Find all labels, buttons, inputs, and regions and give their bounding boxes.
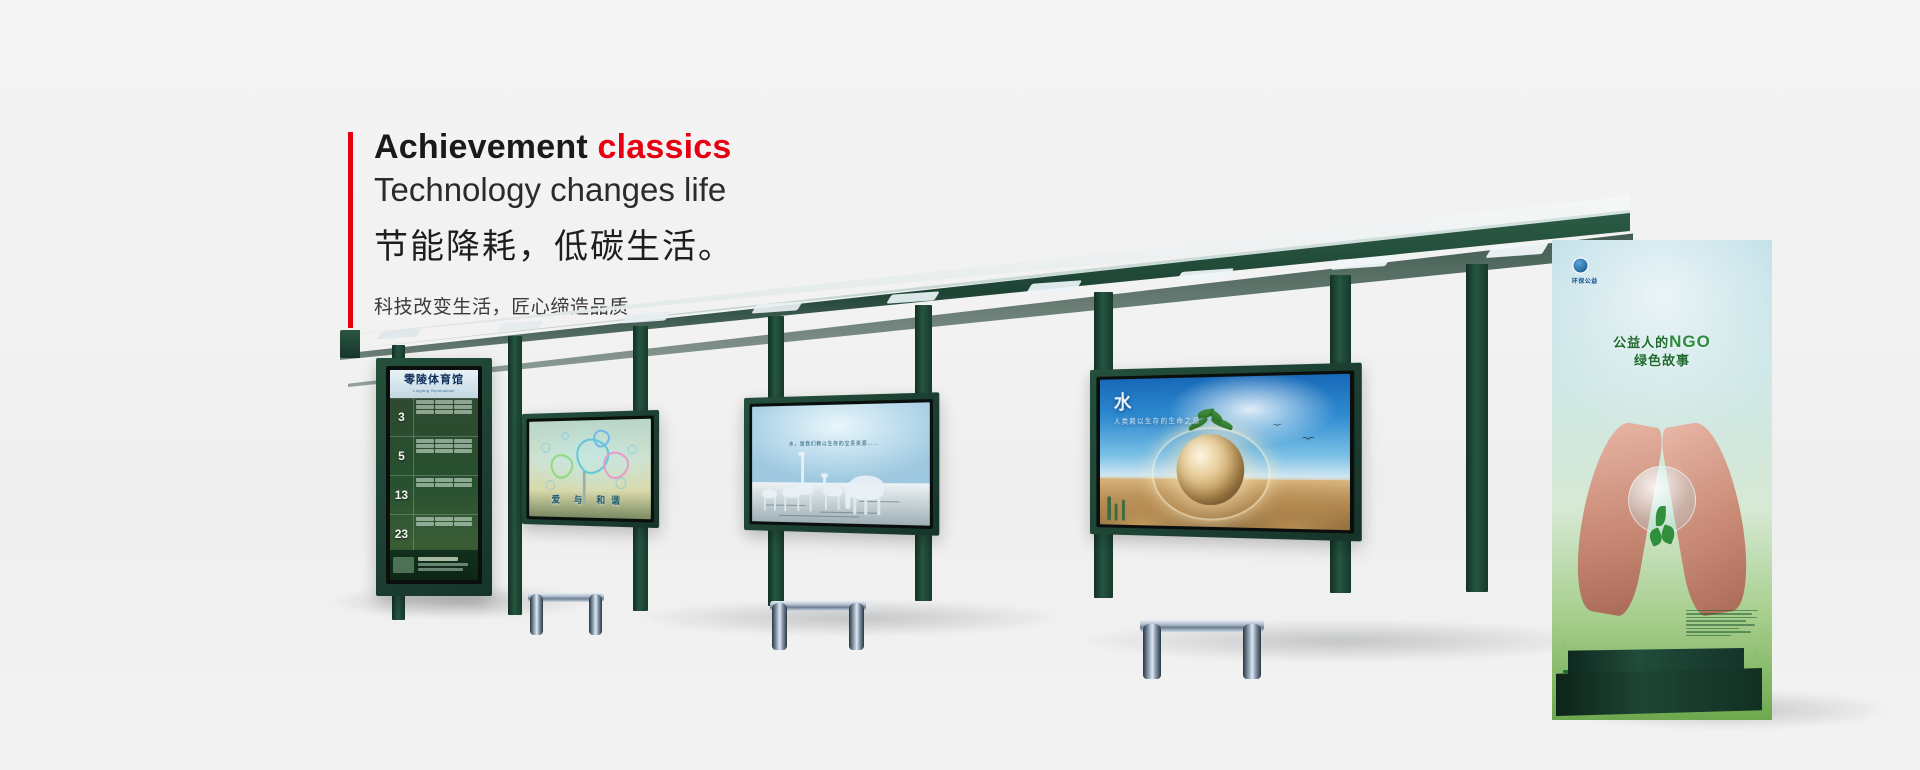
ceiling-light-2 <box>497 321 544 332</box>
schedule-row: 13 <box>390 476 478 515</box>
schedule-footer <box>390 550 478 580</box>
heart-tree-caption: 爱 与 和谐 <box>529 492 651 507</box>
route-number: 3 <box>390 398 414 436</box>
poster-heart-tree: 爱 与 和谐 <box>529 419 651 520</box>
schedule-row: 3 <box>390 398 478 437</box>
lightbox-water[interactable]: 水 人类赖以生存的生命之源 <box>1090 363 1362 542</box>
route-stops <box>414 398 478 436</box>
bench-1 <box>528 593 604 638</box>
post-8 <box>1466 264 1488 592</box>
water-poster-title: 水 <box>1114 394 1132 413</box>
bus-shelter-render: 零陵体育馆 Lingling Gymnasium 3 <box>0 0 1920 770</box>
bench-leg <box>772 610 787 650</box>
lightbox-schedule[interactable]: 零陵体育馆 Lingling Gymnasium 3 <box>376 358 492 596</box>
ngo-sprout <box>1649 504 1675 566</box>
station-subtitle: Lingling Gymnasium <box>413 388 455 393</box>
route-number: 23 <box>390 515 414 553</box>
route-number: 5 <box>390 437 414 475</box>
bird-1 <box>1302 437 1316 442</box>
lightbox-animals-screen[interactable]: 水，是我们赖以生存的宝贵资源…… <box>752 402 930 525</box>
poster-schedule: 零陵体育馆 Lingling Gymnasium 3 <box>390 370 478 580</box>
route-stops <box>414 437 478 475</box>
totem-unit[interactable]: 环保公益 公益人的NGO 绿色故事 <box>1552 240 1772 720</box>
bubble-2 <box>628 445 637 455</box>
lightbox-schedule-screen[interactable]: 零陵体育馆 Lingling Gymnasium 3 <box>390 370 478 580</box>
poster-water: 水 人类赖以生存的生命之源 <box>1100 374 1350 530</box>
bench-leg <box>589 601 602 635</box>
post-2 <box>508 336 522 615</box>
schedule-rows: 3 5 <box>390 398 478 549</box>
ngo-headline-top: 公益人的 <box>1613 335 1669 350</box>
banner-stage: Achievement classics Technology changes … <box>0 0 1920 770</box>
route-stops <box>414 515 478 553</box>
lightbox-animals[interactable]: 水，是我们赖以生存的宝贵资源…… <box>744 392 939 535</box>
heart-left <box>545 449 577 484</box>
schedule-header: 零陵体育馆 Lingling Gymnasium <box>390 370 478 398</box>
ngo-logo: 环保公益 <box>1572 257 1616 285</box>
ngo-headline: 公益人的NGO 绿色故事 <box>1565 331 1759 370</box>
animals-caption: 水，是我们赖以生存的宝贵资源…… <box>789 440 896 448</box>
cactus-1 <box>1107 496 1111 520</box>
bench-leg <box>1143 631 1161 679</box>
bubble-1 <box>541 442 550 452</box>
bird-2 <box>1272 424 1282 428</box>
ngo-logo-mark <box>1572 257 1589 274</box>
ngo-headline-big: NGO <box>1669 332 1711 351</box>
lightbox-heart-tree[interactable]: 爱 与 和谐 <box>522 410 659 528</box>
station-title: 零陵体育馆 <box>404 375 464 386</box>
lightbox-heart-tree-screen[interactable]: 爱 与 和谐 <box>529 419 651 520</box>
water-poster-caption: 人类赖以生存的生命之源 <box>1114 416 1200 427</box>
schedule-notice <box>418 557 474 573</box>
ngo-headline-bottom: 绿色故事 <box>1634 353 1690 368</box>
giraffe <box>801 455 804 485</box>
roof-end-cap-left <box>340 330 360 358</box>
route-stops <box>414 476 478 514</box>
poster-ngo: 环保公益 公益人的NGO 绿色故事 <box>1552 240 1772 720</box>
bubble-5 <box>545 480 554 490</box>
bench-leg <box>1243 631 1261 679</box>
route-number: 13 <box>390 476 414 514</box>
cactus-3 <box>1122 499 1125 520</box>
poster-animals: 水，是我们赖以生存的宝贵资源…… <box>752 402 930 525</box>
schedule-row: 5 <box>390 437 478 476</box>
bubble-3 <box>562 432 570 440</box>
ngo-logo-text: 环保公益 <box>1572 276 1616 285</box>
cactus-2 <box>1115 503 1118 520</box>
lightbox-water-screen[interactable]: 水 人类赖以生存的生命之源 <box>1100 374 1350 530</box>
roof-canopy-edge <box>340 210 1630 350</box>
bench-2 <box>770 601 866 653</box>
bench-3 <box>1140 620 1264 682</box>
bench-leg <box>530 601 543 635</box>
bubble-4 <box>615 477 626 489</box>
schedule-row: 23 <box>390 515 478 554</box>
ceiling-light-1 <box>377 329 422 340</box>
totem-base-lower <box>1556 668 1762 716</box>
schedule-footer-tag <box>393 557 414 573</box>
ngo-body-text <box>1686 610 1761 639</box>
bench-leg <box>849 610 864 650</box>
